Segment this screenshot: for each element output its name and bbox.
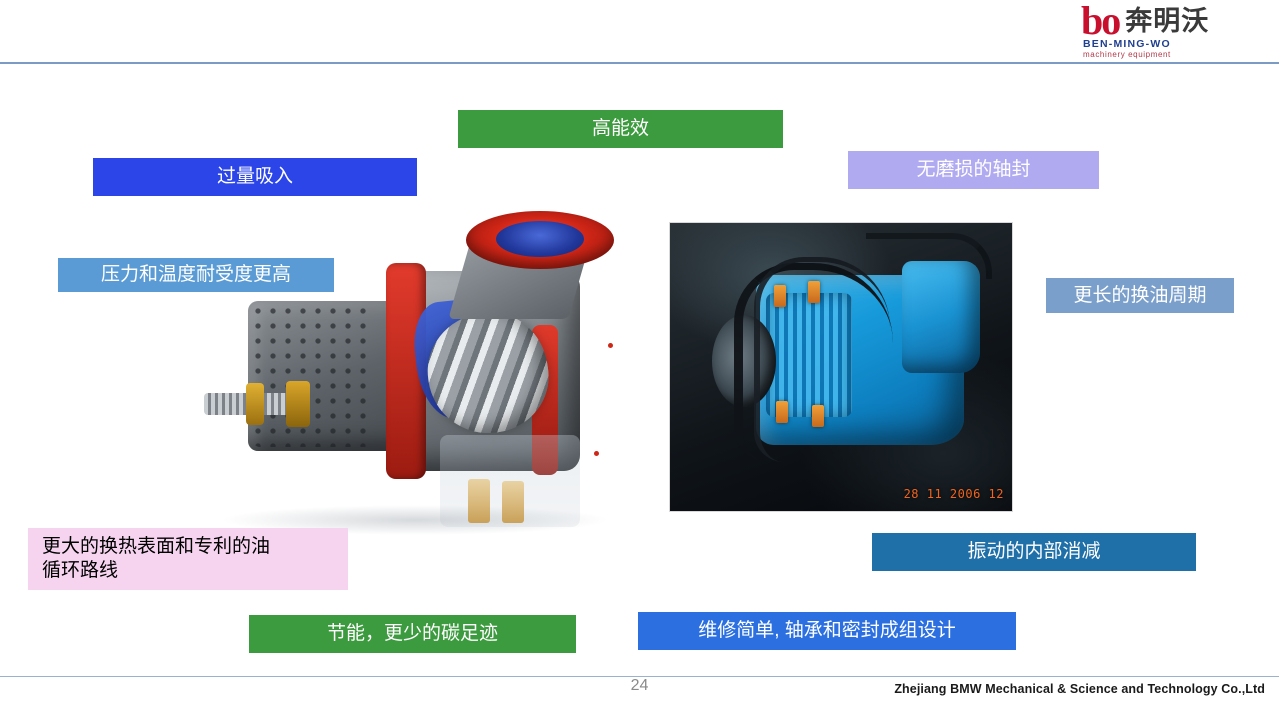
render-amber-part-b (502, 481, 524, 523)
callout-energy-saving-text: 节能，更少的碳足迹 (327, 622, 498, 646)
compressor-photo: 28 11 2006 12 (669, 222, 1013, 512)
callout-higher-pressure-temp-text: 压力和温度耐受度更高 (101, 263, 291, 287)
logo-text-group: 奔明沃 (1125, 6, 1209, 36)
logo-mark: bo (1081, 4, 1119, 38)
render-bolt-pattern (252, 305, 372, 447)
photo-orange-fitting-b (808, 281, 820, 303)
photo-hose (866, 233, 992, 279)
logo-row: bo 奔明沃 (1081, 4, 1209, 38)
callout-over-suction: 过量吸入 (93, 158, 417, 196)
callout-easy-maintenance: 维修简单, 轴承和密封成组设计 (638, 612, 1016, 650)
callout-energy-saving: 节能，更少的碳足迹 (249, 615, 576, 653)
logo-tagline: machinery equipment (1083, 50, 1171, 60)
callout-longer-oil-change-text: 更长的换油周期 (1073, 284, 1206, 308)
callout-easy-maintenance-text: 维修简单, 轴承和密封成组设计 (698, 619, 956, 643)
render-amber-part-a (468, 479, 490, 523)
photo-orange-fitting-d (812, 405, 824, 427)
callout-high-efficiency-text: 高能效 (592, 117, 649, 141)
photo-timestamp: 28 11 2006 12 (904, 487, 1004, 501)
render-marker-a (608, 343, 613, 348)
callout-no-wear-seal-text: 无磨损的轴封 (916, 158, 1030, 182)
callout-high-efficiency: 高能效 (458, 110, 783, 148)
callout-vibration-reduction: 振动的内部消减 (872, 533, 1196, 571)
header-divider (0, 62, 1279, 64)
footer-company-name: Zhejiang BMW Mechanical & Science and Te… (894, 682, 1265, 696)
photo-orange-fitting-c (776, 401, 788, 423)
render-marker-b (594, 451, 599, 456)
render-yellow-seal (246, 383, 264, 425)
logo-latin-name: BEN-MING-WO (1083, 38, 1171, 50)
render-shaft-collar (286, 381, 310, 427)
callout-larger-heat-surface: 更大的换热表面和专利的油 循环路线 (28, 528, 348, 590)
callout-no-wear-seal: 无磨损的轴封 (848, 151, 1099, 189)
callout-vibration-reduction-text: 振动的内部消减 (967, 540, 1100, 564)
callout-over-suction-text: 过量吸入 (217, 165, 293, 189)
slide: bo 奔明沃 BEN-MING-WO machinery equipment (0, 0, 1279, 720)
logo-chinese-name: 奔明沃 (1125, 6, 1209, 36)
callout-higher-pressure-temp: 压力和温度耐受度更高 (58, 258, 334, 292)
callout-longer-oil-change: 更长的换油周期 (1046, 278, 1234, 313)
compressor-3d-render (190, 205, 660, 535)
photo-orange-fitting-a (774, 285, 786, 307)
callout-larger-heat-surface-text: 更大的换热表面和专利的油 循环路线 (42, 535, 270, 583)
render-inlet-bore (496, 221, 584, 257)
company-logo: bo 奔明沃 BEN-MING-WO machinery equipment (1081, 6, 1261, 58)
